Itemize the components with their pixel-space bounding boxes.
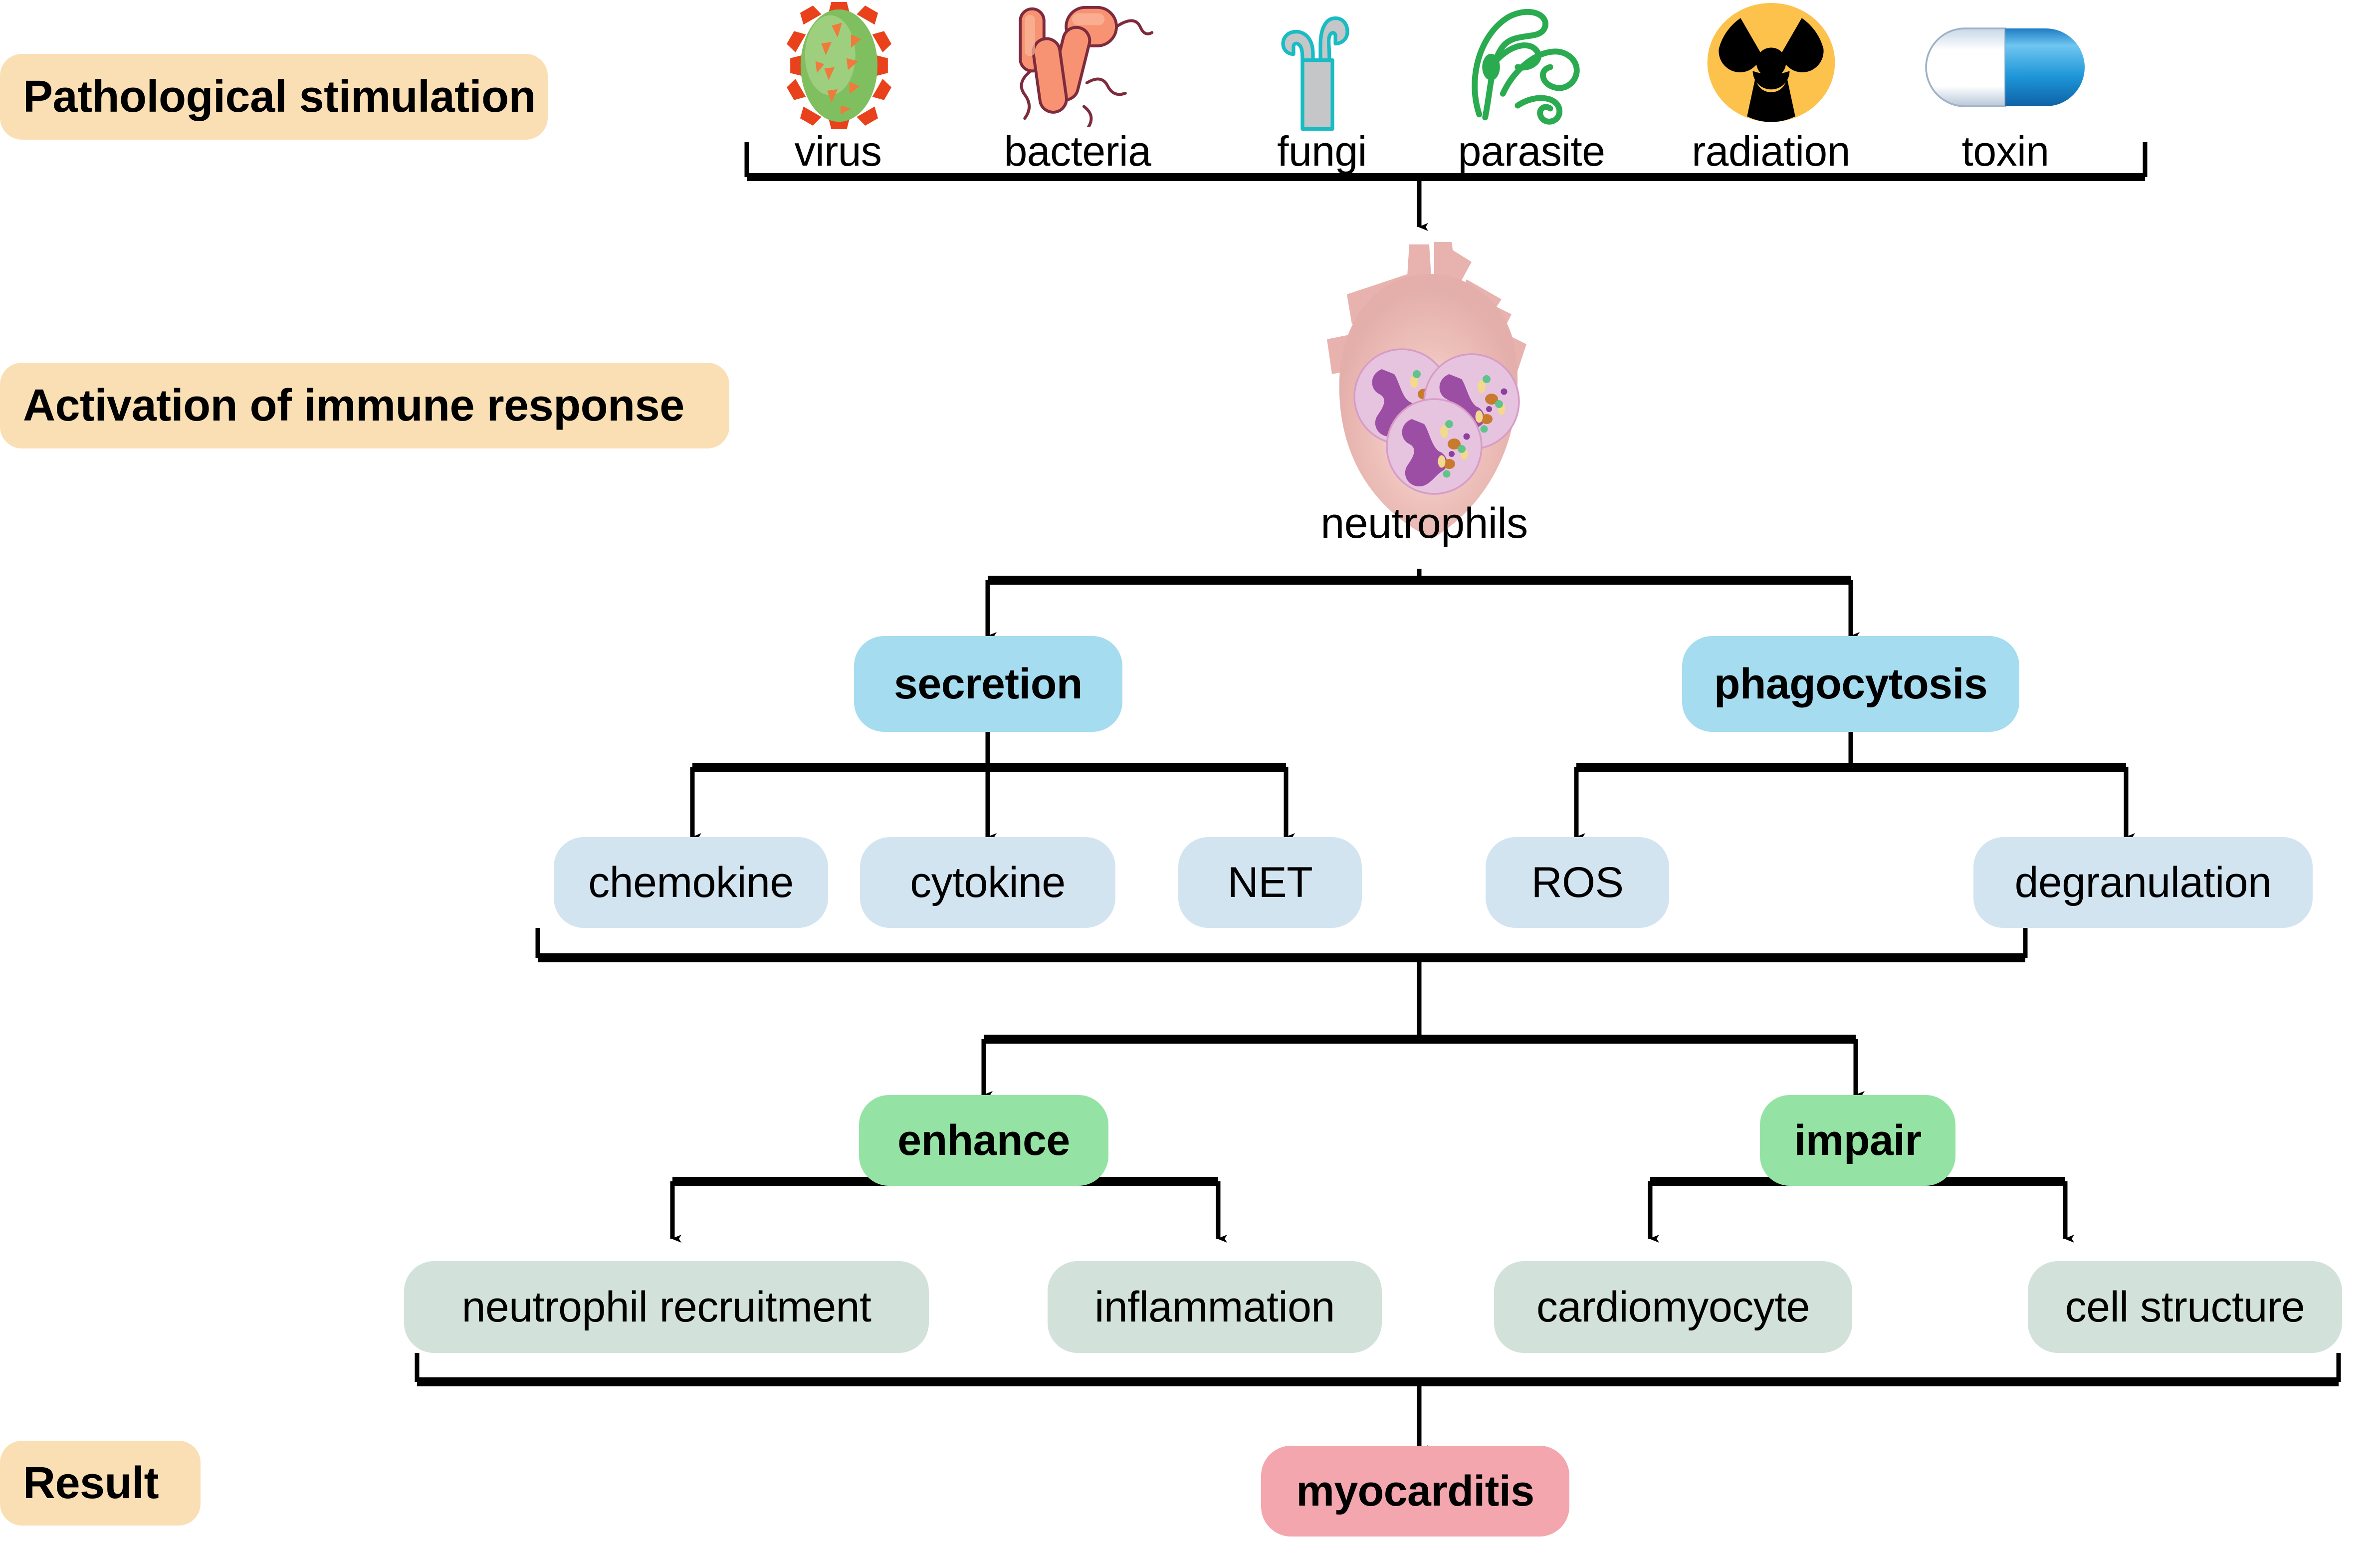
section-label-result: Result	[0, 1441, 201, 1526]
node-label: enhance	[897, 1116, 1070, 1165]
section-label-text: Activation of immune response	[23, 380, 684, 432]
node-label: secretion	[894, 660, 1082, 709]
node-net[interactable]: NET	[1178, 837, 1362, 928]
node-secretion[interactable]: secretion	[854, 636, 1122, 732]
stimulus-label: fungi	[1237, 127, 1407, 176]
node-label: chemokine	[588, 858, 793, 907]
node-degranulation[interactable]: degranulation	[1973, 837, 2313, 928]
virus-icon	[764, 2, 914, 129]
node-label: neutrophil recruitment	[462, 1283, 871, 1332]
node-label: myocarditis	[1296, 1467, 1534, 1516]
node-chemokine[interactable]: chemokine	[554, 837, 828, 928]
section-label-text: Pathological stimulation	[23, 71, 536, 123]
node-enhance[interactable]: enhance	[859, 1095, 1108, 1186]
node-phagocytosis[interactable]: phagocytosis	[1682, 636, 2019, 732]
node-ros[interactable]: ROS	[1486, 837, 1669, 928]
node-inflammation[interactable]: inflammation	[1048, 1261, 1382, 1353]
section-label-pathological-stimulation: Pathological stimulation	[0, 54, 548, 140]
node-cardiomyocyte[interactable]: cardiomyocyte	[1494, 1261, 1852, 1353]
node-label: inflammation	[1094, 1283, 1335, 1332]
neutrophils-label: neutrophils	[1270, 499, 1579, 548]
stimulus-bacteria: bacteria	[968, 0, 1187, 165]
node-myocarditis[interactable]: myocarditis	[1261, 1446, 1569, 1537]
stimulus-parasite: parasite	[1427, 0, 1636, 165]
bacteria-icon	[992, 0, 1161, 127]
node-label: cardiomyocyte	[1536, 1283, 1810, 1332]
node-impair[interactable]: impair	[1760, 1095, 1955, 1186]
node-cell-structure[interactable]: cell structure	[2028, 1261, 2342, 1353]
stimulus-radiation: radiation	[1666, 0, 1876, 165]
node-label: phagocytosis	[1714, 660, 1987, 709]
stimulus-toxin: toxin	[1901, 0, 2110, 165]
parasite-icon	[1452, 2, 1616, 129]
node-neutrophil-recruitment[interactable]: neutrophil recruitment	[404, 1261, 929, 1353]
stimulus-label: radiation	[1666, 127, 1876, 176]
stimulus-fungi: fungi	[1237, 0, 1407, 165]
stimulus-label: bacteria	[968, 127, 1187, 176]
toxin-capsule-icon	[1923, 25, 2088, 110]
node-label: ROS	[1531, 858, 1624, 907]
section-label-text: Result	[23, 1458, 159, 1509]
node-label: cytokine	[910, 858, 1066, 907]
stimulus-label: toxin	[1901, 127, 2110, 176]
node-label: degranulation	[2015, 858, 2272, 907]
node-label: NET	[1228, 858, 1313, 907]
node-label: cell structure	[2065, 1283, 2305, 1332]
node-label: impair	[1794, 1116, 1921, 1165]
stimulus-label: virus	[748, 127, 928, 176]
section-label-activation-of-immune-response: Activation of immune response	[0, 363, 729, 448]
fungi-icon	[1270, 0, 1374, 132]
radiation-icon	[1700, 3, 1842, 128]
stimulus-virus: virus	[748, 0, 928, 165]
stimulus-label: parasite	[1427, 127, 1636, 176]
node-cytokine[interactable]: cytokine	[860, 837, 1115, 928]
flowchart-canvas: Pathological stimulation Activation of i…	[0, 0, 2380, 1542]
